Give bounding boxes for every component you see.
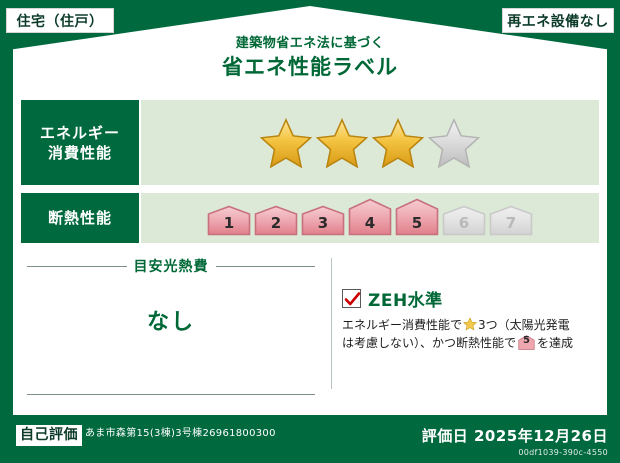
- zeh-checkbox: [342, 289, 361, 308]
- zeh-description: エネルギー消費性能で 3つ（太陽光発電 は考慮しない）、かつ断熱性能で 5 を達…: [342, 316, 595, 352]
- insulation-level-4: 4: [348, 198, 392, 236]
- insulation-level-number: 6: [442, 214, 486, 232]
- footer-right: 評価日 2025年12月26日 00df1039-390c-4550: [422, 421, 608, 457]
- insulation-level-6: 6: [442, 205, 486, 236]
- energy-rating-label: エネルギー 消費性能: [21, 100, 139, 185]
- header: 建築物省エネ法に基づく 省エネ性能ラベル: [0, 36, 620, 81]
- utility-cost-bottom-rule: [27, 394, 315, 395]
- energy-rating-label-line1: エネルギー: [40, 123, 120, 143]
- utility-cost-header: 目安光熱費: [21, 256, 321, 276]
- insulation-rating-row: 断熱性能 1234567: [21, 193, 599, 243]
- energy-rating-label-line2: 消費性能: [48, 143, 112, 163]
- insulation-rating-label-text: 断熱性能: [48, 208, 112, 228]
- zeh-desc-part1: エネルギー消費性能で: [342, 318, 462, 332]
- energy-rating-body: [139, 100, 599, 185]
- check-icon: [344, 291, 361, 308]
- star-empty-icon: [428, 117, 480, 169]
- footer: 自己評価 あま市森第15(3棟)3号棟26961800300 評価日 2025年…: [0, 415, 620, 463]
- house-rating-scale: 1234567: [207, 198, 533, 238]
- insulation-level-2: 2: [254, 205, 298, 236]
- evaluation-date-label: 評価日: [422, 427, 469, 445]
- utility-cost-section: 目安光熱費 なし: [21, 252, 321, 409]
- star-icon: [463, 317, 477, 331]
- insulation-level-3: 3: [301, 205, 345, 236]
- evaluation-date: 評価日 2025年12月26日: [422, 425, 608, 446]
- zeh-desc-part2: 3つ（太陽光発電: [478, 318, 570, 332]
- house-icon-inline: 5: [518, 335, 535, 350]
- zeh-section: ZEH水準 エネルギー消費性能で 3つ（太陽光発電 は考慮しない）、かつ断熱性能…: [342, 252, 599, 409]
- insulation-rating-body: 1234567: [139, 193, 599, 243]
- header-subtitle: 建築物省エネ法に基づく: [0, 36, 620, 52]
- insulation-level-1: 1: [207, 205, 251, 236]
- star-filled-icon: [372, 117, 424, 169]
- evaluation-id: 00df1039-390c-4550: [422, 448, 608, 457]
- self-evaluation-badge: 自己評価: [16, 425, 82, 446]
- energy-rating-row: エネルギー 消費性能: [21, 100, 599, 185]
- energy-performance-label: 住宅（住戸） 再エネ設備なし 建築物省エネ法に基づく 省エネ性能ラベル エネルギ…: [0, 0, 620, 463]
- insulation-level-number: 2: [254, 214, 298, 232]
- insulation-level-7: 7: [489, 205, 533, 236]
- badge-renewable-energy: 再エネ設備なし: [502, 8, 614, 33]
- utility-cost-value: なし: [21, 304, 321, 336]
- star-filled-icon: [316, 117, 368, 169]
- insulation-level-number: 1: [207, 214, 251, 232]
- footer-inner: 自己評価 あま市森第15(3棟)3号棟26961800300 評価日 2025年…: [16, 421, 608, 461]
- evaluation-date-value: 2025年12月26日: [474, 427, 608, 445]
- zeh-desc-part4: を達成: [537, 336, 573, 350]
- badge-building-type: 住宅（住戸）: [6, 8, 114, 33]
- zeh-title: ZEH水準: [368, 286, 443, 311]
- rule-left: [27, 266, 127, 267]
- insulation-rating-label: 断熱性能: [21, 193, 139, 243]
- insulation-level-number: 4: [348, 214, 392, 232]
- star-rating: [260, 117, 480, 169]
- lower-info-area: 目安光熱費 なし ZEH水準 エネルギー消費性能で: [21, 252, 599, 409]
- insulation-level-number: 7: [489, 214, 533, 232]
- utility-cost-title: 目安光熱費: [134, 256, 209, 276]
- insulation-level-number: 5: [395, 214, 439, 232]
- house-icon-inline-number: 5: [518, 332, 535, 350]
- label-card: エネルギー 消費性能 断熱性能 1234567 目安光熱費: [13, 92, 607, 415]
- property-address: あま市森第15(3棟)3号棟26961800300: [85, 427, 345, 440]
- zeh-desc-part3: は考慮しない）、かつ断熱性能で: [342, 336, 516, 350]
- zeh-header: ZEH水準: [342, 286, 595, 311]
- insulation-level-number: 3: [301, 214, 345, 232]
- page-title: 省エネ性能ラベル: [0, 53, 620, 81]
- insulation-level-5: 5: [395, 198, 439, 236]
- section-divider: [331, 258, 332, 389]
- star-filled-icon: [260, 117, 312, 169]
- rule-right: [216, 266, 316, 267]
